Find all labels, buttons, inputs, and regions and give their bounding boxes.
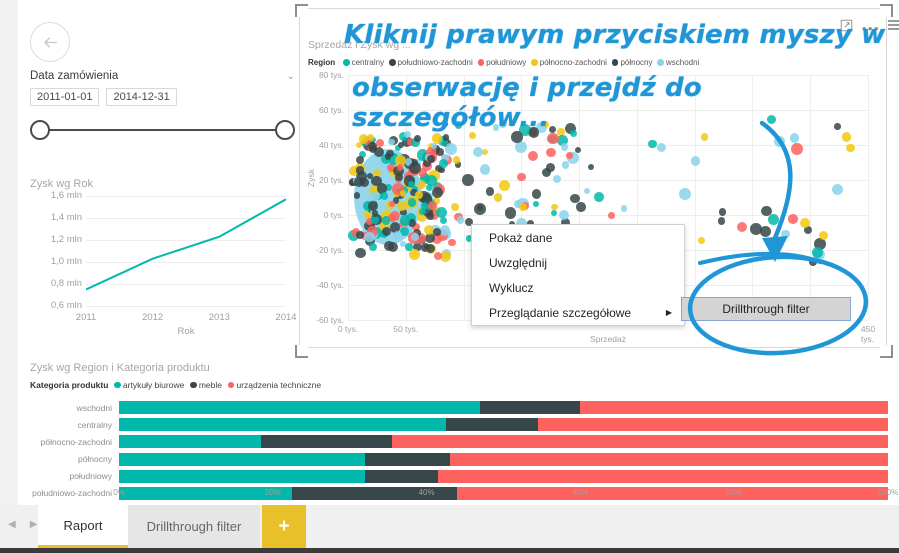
scatter-point[interactable] <box>547 133 558 144</box>
bar-stack <box>119 418 888 431</box>
scatter-point[interactable] <box>499 180 510 191</box>
legend-color-dot <box>343 59 350 66</box>
scatter-point[interactable] <box>561 143 568 150</box>
bar-legend-item[interactable]: meble <box>190 380 222 390</box>
scatter-point[interactable] <box>389 201 395 207</box>
scatter-point[interactable] <box>718 217 726 225</box>
scatter-point[interactable] <box>414 135 421 142</box>
scatter-point[interactable] <box>398 142 404 148</box>
back-arrow-icon[interactable] <box>30 22 70 62</box>
bar-segment[interactable] <box>119 435 261 448</box>
context-menu-item[interactable]: Wyklucz <box>472 275 684 300</box>
scatter-point[interactable] <box>542 168 552 178</box>
scatter-point[interactable] <box>356 166 364 174</box>
scatter-x-tick: 50 tys. <box>393 324 418 334</box>
scatter-point[interactable] <box>354 192 361 199</box>
bar-stack <box>119 470 888 483</box>
scatter-point[interactable] <box>809 258 817 266</box>
drag-handle-icon[interactable] <box>888 20 899 29</box>
legend-label: urządzenia techniczne <box>236 380 321 390</box>
line-chart-x-tick: 2011 <box>76 312 96 323</box>
scatter-point[interactable] <box>588 164 594 170</box>
scatter-point[interactable] <box>448 239 455 246</box>
annotation-line-2: obserwację i przejdź do szczegółów... <box>352 73 899 133</box>
line-chart-series <box>86 196 286 308</box>
scatter-point[interactable] <box>594 192 604 202</box>
scatter-legend-item[interactable]: północno-zachodni <box>531 58 607 67</box>
selection-handle-bottom-left[interactable] <box>295 345 308 358</box>
bar-segment[interactable] <box>365 453 450 466</box>
scatter-point[interactable] <box>368 201 378 211</box>
annotation-line-1: Kliknij prawym przyciskiem myszy w <box>344 20 886 50</box>
scatter-gridline-h <box>348 145 868 146</box>
tab-nav-arrows: ◀ ▶ <box>8 519 37 530</box>
date-from-input[interactable]: 2011-01-01 <box>30 88 99 106</box>
scatter-point[interactable] <box>566 152 573 159</box>
scatter-gridline-v <box>348 75 349 320</box>
scatter-point[interactable] <box>445 143 457 155</box>
scatter-y-axis-title: Zysk <box>306 169 316 187</box>
scatter-point[interactable] <box>505 207 516 218</box>
scatter-point[interactable] <box>359 134 368 143</box>
slider-handle-left[interactable] <box>30 120 50 140</box>
tab-raport[interactable]: Raport <box>38 505 128 548</box>
drillthrough-filter-submenu-item[interactable]: Drillthrough filter <box>681 297 851 321</box>
context-menu-item-label: Przeglądanie szczegółowe <box>489 306 631 320</box>
scatter-point[interactable] <box>691 156 700 165</box>
scatter-legend: Region centralnypołudniowo-zachodnipołud… <box>308 58 699 67</box>
legend-label: północny <box>620 58 652 67</box>
scatter-point[interactable] <box>576 202 586 212</box>
date-range-inputs: 2011-01-01 2014-12-31 <box>30 88 295 106</box>
legend-color-dot <box>657 59 664 66</box>
legend-label: centralny <box>352 58 384 67</box>
bar-chart-row[interactable]: wschodni <box>30 400 888 415</box>
scatter-point[interactable] <box>415 191 423 199</box>
bar-segment[interactable] <box>538 418 888 431</box>
scatter-point[interactable] <box>355 248 365 258</box>
scatter-x-tick: 450 tys. <box>861 324 875 344</box>
scatter-point[interactable] <box>698 237 705 244</box>
slicer-title: Data zamówienia <box>30 70 118 82</box>
profit-by-region-category-bar-chart[interactable]: Zysk wg Region i Kategoria produktu Kate… <box>30 362 888 502</box>
bar-segment[interactable] <box>450 453 888 466</box>
scatter-x-tick: 0 tys. <box>338 324 358 334</box>
scatter-y-tick: 80 tys. <box>302 70 344 80</box>
scatter-point[interactable] <box>781 230 790 239</box>
date-to-input[interactable]: 2014-12-31 <box>106 88 176 106</box>
scatter-point[interactable] <box>532 189 542 199</box>
scatter-point[interactable] <box>846 144 855 153</box>
context-menu-item-label: Pokaż dane <box>489 231 552 245</box>
scatter-point[interactable] <box>528 151 538 161</box>
scatter-point[interactable] <box>397 164 403 170</box>
scatter-point[interactable] <box>424 225 434 235</box>
legend-color-dot <box>389 59 396 66</box>
scatter-point[interactable] <box>800 218 810 228</box>
nav-prev-icon[interactable]: ◀ <box>8 519 16 530</box>
legend-label: południowy <box>486 58 526 67</box>
legend-color-dot <box>478 59 485 66</box>
slicer-header: Data zamówienia ⌄ <box>30 70 295 82</box>
scatter-legend-title: Region <box>308 58 335 67</box>
scatter-point[interactable] <box>408 198 417 207</box>
scatter-legend-item[interactable]: północny <box>612 58 653 67</box>
bar-segment[interactable] <box>119 418 446 431</box>
scatter-point[interactable] <box>486 187 494 195</box>
bar-legend-item[interactable]: artykuły biurowe <box>114 380 184 390</box>
bar-segment[interactable] <box>119 470 365 483</box>
scatter-point[interactable] <box>760 226 771 237</box>
selection-handle-top-left[interactable] <box>295 4 308 17</box>
bar-x-tick: 80% <box>726 488 742 497</box>
scatter-point[interactable] <box>388 139 394 145</box>
scatter-point[interactable] <box>436 148 443 155</box>
scatter-y-tick: 40 tys. <box>302 140 344 150</box>
scatter-y-tick: -20 tys. <box>302 245 344 255</box>
bar-category-label: wschodni <box>30 403 119 413</box>
bar-category-label: południowo-zachodni <box>30 488 119 498</box>
chevron-down-icon[interactable]: ⌄ <box>287 71 295 82</box>
bar-stack <box>119 401 888 414</box>
scatter-point[interactable] <box>409 162 421 174</box>
context-menu-item[interactable]: Przeglądanie szczegółowe▶ <box>472 300 684 325</box>
scatter-point[interactable] <box>428 201 437 210</box>
bar-stack <box>119 453 888 466</box>
line-chart-x-tick: 2013 <box>209 312 230 323</box>
scatter-point[interactable] <box>480 164 491 175</box>
bar-chart-title: Zysk wg Region i Kategoria produktu <box>30 362 888 374</box>
legend-color-dot <box>612 59 619 66</box>
context-menu-item[interactable]: Uwzględnij <box>472 250 684 275</box>
legend-label: meble <box>199 380 222 390</box>
legend-color-dot <box>190 382 197 389</box>
date-slicer[interactable]: Data zamówienia ⌄ 2011-01-01 2014-12-31 <box>30 22 295 122</box>
scatter-point[interactable] <box>788 214 797 223</box>
bar-legend-item[interactable]: urządzenia techniczne <box>228 380 321 390</box>
scatter-point[interactable] <box>364 232 374 242</box>
scatter-point[interactable] <box>400 190 407 197</box>
bar-segment[interactable] <box>438 470 888 483</box>
bar-chart-x-axis: 0%20%40%60%80%100% <box>119 488 888 500</box>
scatter-point[interactable] <box>812 247 823 258</box>
scatter-point[interactable] <box>517 173 525 181</box>
scatter-point[interactable] <box>411 233 419 241</box>
scatter-point[interactable] <box>440 225 450 235</box>
scatter-point[interactable] <box>621 205 627 211</box>
legend-color-dot <box>531 59 538 66</box>
line-chart-y-tick: 0,6 mln <box>30 300 82 311</box>
scatter-point[interactable] <box>608 212 615 219</box>
bar-chart-legend: Kategoria produktu artykuły biurowemeble… <box>30 380 321 390</box>
date-range-slider[interactable] <box>30 118 295 142</box>
nav-next-icon[interactable]: ▶ <box>30 519 38 530</box>
legend-label: południowo-zachodni <box>398 58 473 67</box>
scatter-y-tick: 0 tys. <box>302 210 344 220</box>
bar-x-tick: 0% <box>113 488 125 497</box>
scatter-point[interactable] <box>432 187 443 198</box>
context-menu[interactable]: Pokaż daneUwzględnijWykluczPrzeglądanie … <box>471 224 685 326</box>
bar-chart-row[interactable]: północny <box>30 452 888 467</box>
scatter-point[interactable] <box>494 193 503 202</box>
bar-segment[interactable] <box>580 401 888 414</box>
legend-label: artykuły biurowe <box>123 380 184 390</box>
line-chart-y-tick: 1,0 mln <box>30 256 82 267</box>
context-menu-item-label: Uwzględnij <box>489 256 547 270</box>
line-chart-x-axis-title: Rok <box>86 326 286 337</box>
report-canvas: Data zamówienia ⌄ 2011-01-01 2014-12-31 … <box>0 0 899 553</box>
scatter-point[interactable] <box>648 140 657 149</box>
scatter-point[interactable] <box>701 133 708 140</box>
scatter-point[interactable] <box>737 222 747 232</box>
bar-segment[interactable] <box>392 435 888 448</box>
slider-handle-right[interactable] <box>275 120 295 140</box>
scatter-point[interactable] <box>533 201 540 208</box>
scatter-point[interactable] <box>453 156 460 163</box>
tab-bar-underline <box>0 548 899 553</box>
bar-category-label: południowy <box>30 471 119 481</box>
scatter-point[interactable] <box>356 231 364 239</box>
context-menu-item[interactable]: Pokaż dane <box>472 225 684 250</box>
scatter-point[interactable] <box>562 161 570 169</box>
bar-segment[interactable] <box>365 470 438 483</box>
scatter-point[interactable] <box>371 216 379 224</box>
scatter-point[interactable] <box>462 174 473 185</box>
line-chart-y-tick: 1,6 mln <box>30 190 82 201</box>
bar-segment[interactable] <box>119 401 480 414</box>
scatter-point[interactable] <box>371 176 381 186</box>
line-chart-y-tick: 0,8 mln <box>30 278 82 289</box>
bar-x-tick: 20% <box>265 488 281 497</box>
scatter-point[interactable] <box>553 175 561 183</box>
bar-chart-row[interactable]: północno-zachodni <box>30 434 888 449</box>
bar-category-label: centralny <box>30 420 119 430</box>
scatter-point[interactable] <box>439 159 448 168</box>
scatter-point[interactable] <box>354 177 364 187</box>
line-chart-y-tick: 1,2 mln <box>30 234 82 245</box>
scatter-point[interactable] <box>774 136 785 147</box>
bar-x-tick: 100% <box>878 488 898 497</box>
scatter-point[interactable] <box>791 143 803 155</box>
scatter-x-axis-title: Sprzedaż <box>590 334 626 344</box>
scatter-y-tick: 60 tys. <box>302 105 344 115</box>
scatter-y-tick: -40 tys. <box>302 280 344 290</box>
scatter-point[interactable] <box>842 132 852 142</box>
legend-color-dot <box>228 382 235 389</box>
scatter-point[interactable] <box>519 203 527 211</box>
add-page-button[interactable]: + <box>262 505 306 548</box>
scatter-point[interactable] <box>832 184 843 195</box>
scatter-point[interactable] <box>433 228 441 236</box>
selection-handle-bottom-right[interactable] <box>880 345 893 358</box>
bar-stack <box>119 435 888 448</box>
scatter-point[interactable] <box>584 188 590 194</box>
scatter-legend-item[interactable]: centralny <box>343 58 384 67</box>
profit-by-year-line-chart[interactable]: Zysk wg Rok 1,6 mln1,4 mln1,2 mln1,0 mln… <box>30 178 292 343</box>
line-chart-plot: 1,6 mln1,4 mln1,2 mln1,0 mln0,8 mln0,6 m… <box>86 196 286 306</box>
page-tab-bar: ◀ ▶ Raport Drillthrough filter + <box>0 505 899 553</box>
bar-x-tick: 40% <box>419 488 435 497</box>
scatter-point[interactable] <box>515 141 527 153</box>
legend-label: północno-zachodni <box>540 58 607 67</box>
scatter-point[interactable] <box>376 139 384 147</box>
scatter-point[interactable] <box>436 207 447 218</box>
bar-segment[interactable] <box>480 401 580 414</box>
scatter-legend-item[interactable]: wschodni <box>657 58 699 67</box>
scatter-point[interactable] <box>469 132 476 139</box>
scatter-point[interactable] <box>657 143 666 152</box>
submenu-arrow-icon: ▶ <box>666 308 672 317</box>
scatter-point[interactable] <box>400 215 411 226</box>
bar-category-label: północny <box>30 454 119 464</box>
line-chart-x-tick: 2012 <box>142 312 163 323</box>
scatter-point[interactable] <box>397 201 407 211</box>
scatter-point[interactable] <box>409 249 420 260</box>
bar-segment[interactable] <box>446 418 538 431</box>
scatter-point[interactable] <box>367 134 374 141</box>
selection-handle-top-right[interactable] <box>880 4 893 17</box>
bar-segment[interactable] <box>261 435 392 448</box>
bar-segment[interactable] <box>119 453 365 466</box>
context-menu-item-label: Wyklucz <box>489 281 534 295</box>
scatter-point[interactable] <box>768 214 779 225</box>
bar-chart-row[interactable]: centralny <box>30 417 888 432</box>
line-chart-y-tick: 1,4 mln <box>30 212 82 223</box>
bar-x-tick: 60% <box>572 488 588 497</box>
line-chart-title: Zysk wg Rok <box>30 178 292 190</box>
scatter-point[interactable] <box>790 133 799 142</box>
scatter-point[interactable] <box>679 188 691 200</box>
bar-chart-row[interactable]: południowy <box>30 469 888 484</box>
scatter-legend-item[interactable]: południowo-zachodni <box>389 58 473 67</box>
legend-color-dot <box>114 382 121 389</box>
scatter-point[interactable] <box>443 134 450 141</box>
scatter-point[interactable] <box>819 231 828 240</box>
scatter-point[interactable] <box>440 217 447 224</box>
bar-chart-legend-title: Kategoria produktu <box>30 380 108 390</box>
scatter-legend-item[interactable]: południowy <box>478 58 527 67</box>
line-chart-x-tick: 2014 <box>275 312 296 323</box>
legend-label: wschodni <box>666 58 699 67</box>
slider-track <box>40 129 285 131</box>
bar-category-label: północno-zachodni <box>30 437 119 447</box>
scatter-point[interactable] <box>451 203 459 211</box>
scatter-point[interactable] <box>414 177 421 184</box>
tab-drillthrough-filter[interactable]: Drillthrough filter <box>128 505 260 548</box>
scatter-point[interactable] <box>546 148 555 157</box>
left-rail <box>0 0 19 505</box>
scatter-point[interactable] <box>473 147 483 157</box>
